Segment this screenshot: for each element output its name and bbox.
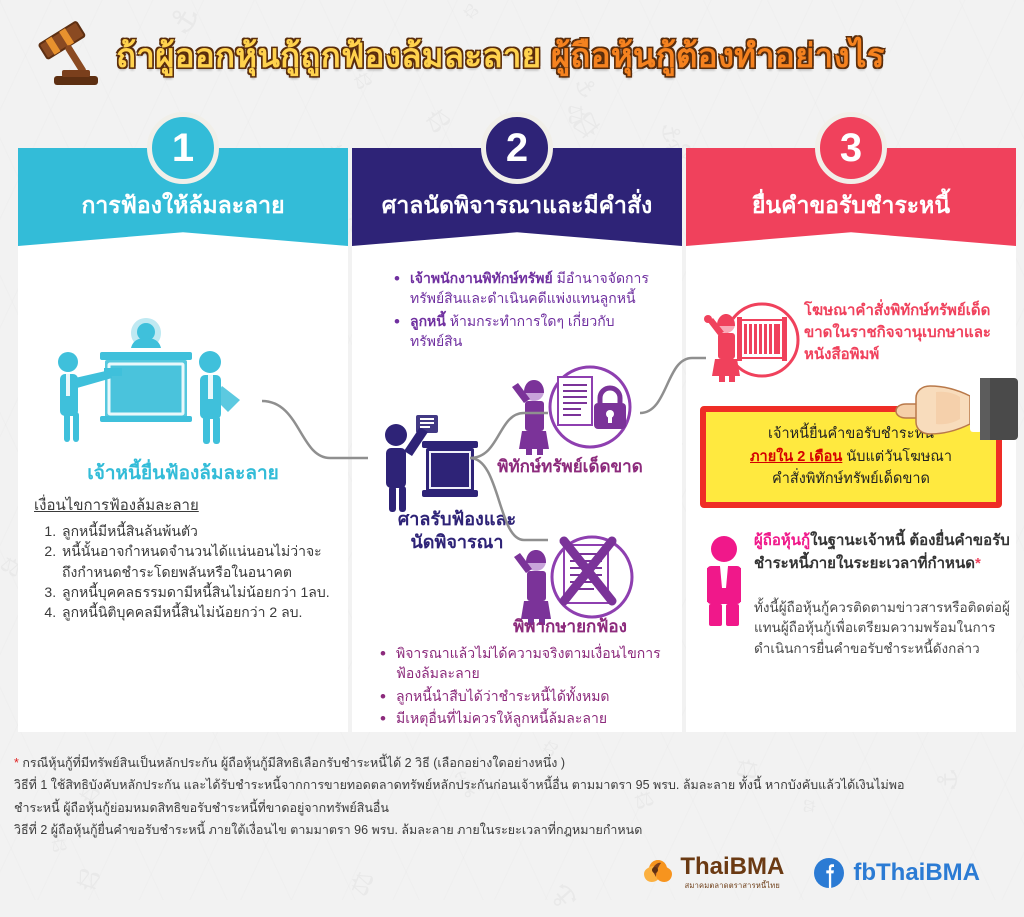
facebook-link[interactable]: fbThaiBMA (814, 858, 980, 888)
step-1-conditions: เงื่อนไขการฟ้องล้มละลาย ลูกหนี้มีหนี้สิน… (34, 493, 334, 622)
callout-line2: นับแต่วันโฆษณา (846, 449, 952, 465)
bondholder-heading-asterisk: * (975, 555, 981, 572)
case-dismissed-caption: พิพากษายกฟ้อง (470, 613, 670, 640)
thaibma-subtitle: สมาคมตลาดตราสารหนี้ไทย (680, 880, 784, 892)
footnote-text-1: กรณีหุ้นกู้ที่มีทรัพย์สินเป็นหลักประกัน … (22, 756, 565, 770)
footnotes: * กรณีหุ้นกู้ที่มีทรัพย์สินเป็นหลักประกั… (14, 752, 1014, 841)
bullet-bold-lead: เจ้าพนักงานพิทักษ์ทรัพย์ (410, 270, 553, 286)
step-2-bottom-bullets: พิจารณาแล้วไม่ได้ความจริงตามเงื่อนไขการฟ… (380, 643, 670, 730)
list-item: ลูกหนี้ ห้ามกระทำการใดๆ เกี่ยวกับทรัพย์ส… (394, 311, 654, 352)
list-item: ลูกหนี้บุคคลธรรมดามีหนี้สินไม่น้อยกว่า 1… (60, 582, 334, 602)
step-1-number-badge: 1 (147, 112, 219, 184)
list-item: เจ้าพนักงานพิทักษ์ทรัพย์ มีอำนาจจัดการทร… (394, 268, 654, 309)
header-banner: ถ้าผู้ออกหุ้นกู้ถูกฟ้องล้มละลาย ผู้ถือหุ… (0, 18, 1024, 92)
step-1-caption: เจ้าหนี้ยื่นฟ้องล้มละลาย (18, 458, 348, 488)
conditions-list: ลูกหนี้มีหนี้สินล้นพ้นตัว หนี้นั้นอาจกำห… (60, 521, 334, 622)
announcement-text: โฆษณาคำสั่งพิทักษ์ทรัพย์เด็ดขาดในราชกิจจ… (804, 300, 1012, 365)
bullet-bold-lead: ลูกหนี้ (410, 313, 446, 329)
page-title-part2: ผู้ถือหุ้นกู้ต้องทำอย่างไร (551, 37, 885, 74)
creditor-files-lawsuit-illustration (42, 308, 272, 448)
bondholder-body-text: ทั้งนี้ผู้ถือหุ้นกู้ควรติดตามข่าวสารหรือ… (754, 598, 1010, 659)
footnote-line-1: * กรณีหุ้นกู้ที่มีทรัพย์สินเป็นหลักประกั… (14, 752, 1014, 774)
thaibma-name: ThaiBMA (680, 855, 784, 879)
footnote-asterisk: * (14, 756, 19, 770)
list-item: ลูกหนี้นิติบุคคลมีหนี้สินไม่น้อยกว่า 2 ล… (60, 602, 334, 622)
case-dismissed-crossed-document-icon (500, 533, 640, 625)
list-item: พิจารณาแล้วไม่ได้ความจริงตามเงื่อนไขการฟ… (380, 643, 670, 684)
thaibma-flower-logo (640, 856, 676, 890)
bondholder-heading-pink: ผู้ถือหุ้นกู้ (754, 532, 810, 549)
announcement-megaphone-gazette-icon (700, 300, 804, 386)
footnote-line-2: วิธีที่ 1 ใช้สิทธิบังคับหลักประกัน และได… (14, 774, 1014, 796)
conditions-title: เงื่อนไขการฟ้องล้มละลาย (34, 493, 334, 517)
page-title-part1: ถ้าผู้ออกหุ้นกู้ถูกฟ้องล้มละลาย (116, 37, 541, 74)
bondholder-heading: ผู้ถือหุ้นกู้ในฐานะเจ้าหนี้ ต้องยื่นคำขอ… (754, 530, 1010, 575)
court-caption-line1: ศาลรับฟ้องและ (352, 508, 562, 531)
footer: ThaiBMA สมาคมตลาดตราสารหนี้ไทย fbThaiBMA (0, 848, 1024, 898)
absolute-receivership-lock-icon (494, 363, 639, 455)
list-item: หนี้นั้นอาจกำหนดจำนวนได้แน่นอนไม่ว่าจะถึ… (60, 541, 334, 582)
step-3-number-badge: 3 (815, 112, 887, 184)
footnote-line-4: วิธีที่ 2 ผู้ถือหุ้นกู้ยื่นคำขอรับชำระหน… (14, 819, 1014, 841)
callout-highlight: ภายใน 2 เดือน (750, 449, 842, 465)
list-item: ลูกหนี้มีหนี้สินล้นพ้นตัว (60, 521, 334, 541)
pointing-hand-icon (862, 370, 1018, 440)
callout-line3: คำสั่งพิทักษ์ทรัพย์เด็ดขาด (772, 471, 930, 487)
gavel-icon (24, 20, 110, 90)
list-item: ลูกหนี้นำสืบได้ว่าชำระหนี้ได้ทั้งหมด (380, 686, 670, 706)
list-item: มีเหตุอื่นที่ไม่ควรให้ลูกหนี้ล้มละลาย (380, 708, 670, 728)
facebook-label: fbThaiBMA (853, 859, 980, 887)
bondholder-person-icon (698, 536, 750, 626)
footnote-line-3: ชำระหนี้ ผู้ถือหุ้นกู้ย่อมหมดสิทธิขอรับช… (14, 797, 1014, 819)
page-title: ถ้าผู้ออกหุ้นกู้ถูกฟ้องล้มละลาย ผู้ถือหุ… (116, 29, 885, 82)
absolute-receivership-caption: พิทักษ์ทรัพย์เด็ดขาด (470, 453, 670, 480)
thaibma-logo: ThaiBMA สมาคมตลาดตราสารหนี้ไทย (640, 855, 784, 892)
watermark-glyph: ⚖ (420, 102, 456, 138)
step-2-number-badge: 2 (481, 112, 553, 184)
step-2-top-bullets: เจ้าพนักงานพิทักษ์ทรัพย์ มีอำนาจจัดการทร… (394, 268, 654, 353)
facebook-icon[interactable] (814, 858, 844, 888)
